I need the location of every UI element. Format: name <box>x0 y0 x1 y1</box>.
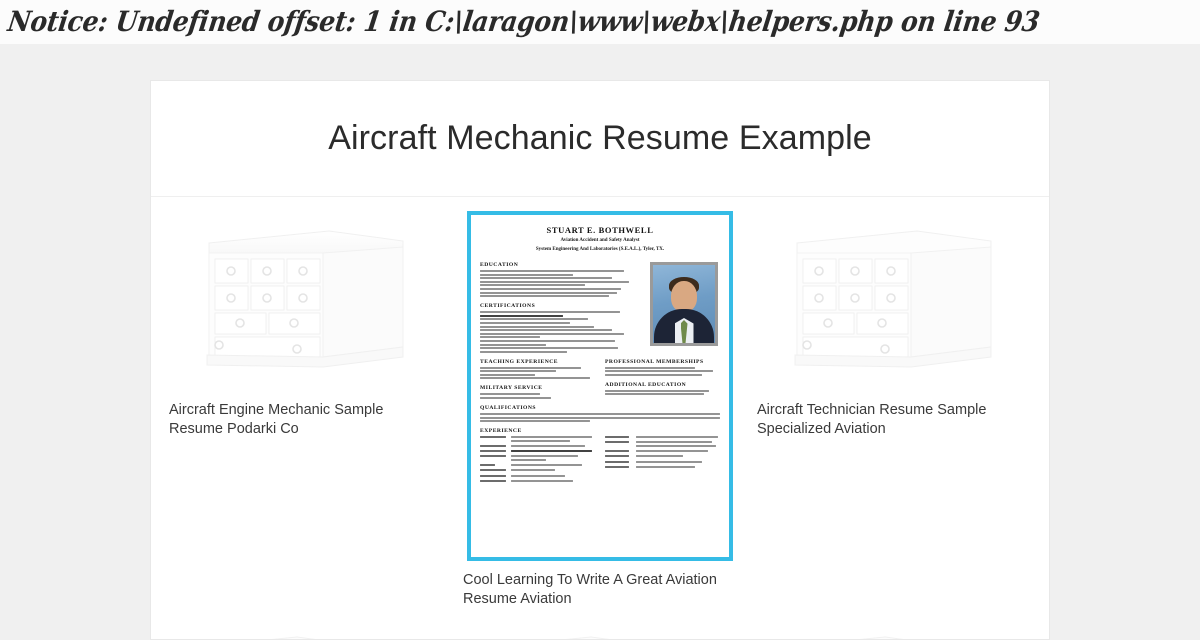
dresser-placeholder-image <box>789 221 999 381</box>
dresser-placeholder-image <box>201 221 411 381</box>
dresser-placeholder-image <box>169 627 379 640</box>
resume-section-certifications: CERTIFICATIONS <box>480 303 630 309</box>
php-notice-text: Notice: Undefined offset: 1 in C:\larago… <box>0 5 1042 39</box>
content-card: Aircraft Mechanic Resume Example <box>150 80 1050 640</box>
card-header: Aircraft Mechanic Resume Example <box>151 81 1049 197</box>
resume-body: EDUCATION CERTIFICA <box>480 262 720 485</box>
gallery-item-partial[interactable] <box>747 627 1041 640</box>
thumbnail-link[interactable] <box>757 211 1031 391</box>
gallery-item[interactable]: Aircraft Technician Resume Sample Specia… <box>747 211 1041 627</box>
gallery-item-featured[interactable]: STUART E. BOTHWELL Aviation Accident and… <box>453 211 747 627</box>
resume-qualifications-lines <box>480 413 720 422</box>
resume-additional-education-lines <box>605 390 720 396</box>
gallery-item[interactable]: Aircraft Engine Mechanic Sample Resume P… <box>159 211 453 627</box>
resume-left-column: TEACHING EXPERIENCE MILITARY SERVICE <box>480 359 595 405</box>
gallery-grid: Aircraft Engine Mechanic Sample Resume P… <box>151 197 1049 627</box>
portrait-head <box>671 281 697 312</box>
resume-section-qualifications: QUALIFICATIONS <box>480 405 720 411</box>
resume-subtitle-2: System Engineering And Laboratories (S.E… <box>480 246 720 253</box>
resume-thumbnail-image: STUART E. BOTHWELL Aviation Accident and… <box>467 211 733 561</box>
php-notice-bar: Notice: Undefined offset: 1 in C:\larago… <box>0 0 1200 44</box>
resume-subtitle-1: Aviation Accident and Safety Analyst <box>480 237 720 244</box>
dresser-placeholder-image <box>463 627 673 640</box>
gallery-item-caption: Aircraft Technician Resume Sample Specia… <box>757 401 1027 439</box>
resume-military-lines <box>480 393 595 399</box>
gallery-item-caption: Aircraft Engine Mechanic Sample Resume P… <box>169 401 439 439</box>
gallery-item-caption: Cool Learning To Write A Great Aviation … <box>463 571 733 609</box>
resume-section-additional-education: ADDITIONAL EDUCATION <box>605 382 720 388</box>
resume-name: STUART E. BOTHWELL <box>480 225 720 235</box>
thumbnail-link[interactable] <box>169 211 443 391</box>
dresser-placeholder-image <box>757 627 967 640</box>
resume-certifications-lines <box>480 311 630 353</box>
resume-section-experience: EXPERIENCE <box>480 428 720 434</box>
resume-two-column-area: TEACHING EXPERIENCE MILITARY SERVICE <box>480 359 720 405</box>
resume-education-lines <box>480 270 630 297</box>
thumbnail-link-featured[interactable]: STUART E. BOTHWELL Aviation Accident and… <box>463 211 737 561</box>
resume-teaching-lines <box>480 367 595 380</box>
resume-section-military-service: MILITARY SERVICE <box>480 385 595 391</box>
resume-memberships-lines <box>605 367 720 376</box>
resume-portrait-photo <box>650 262 718 346</box>
resume-section-professional-memberships: PROFESSIONAL MEMBERSHIPS <box>605 359 720 365</box>
resume-experience-left <box>480 436 595 485</box>
resume-experience-columns <box>480 436 720 485</box>
gallery-grid-next-row <box>151 627 1049 640</box>
resume-section-teaching-experience: TEACHING EXPERIENCE <box>480 359 595 365</box>
resume-right-column: PROFESSIONAL MEMBERSHIPS ADDITIONAL EDUC… <box>605 359 720 405</box>
page-title: Aircraft Mechanic Resume Example <box>328 119 872 158</box>
gallery-item-partial[interactable] <box>159 627 453 640</box>
resume-section-education: EDUCATION <box>480 262 630 268</box>
gallery-item-partial[interactable] <box>453 627 747 640</box>
resume-experience-right <box>605 436 720 485</box>
